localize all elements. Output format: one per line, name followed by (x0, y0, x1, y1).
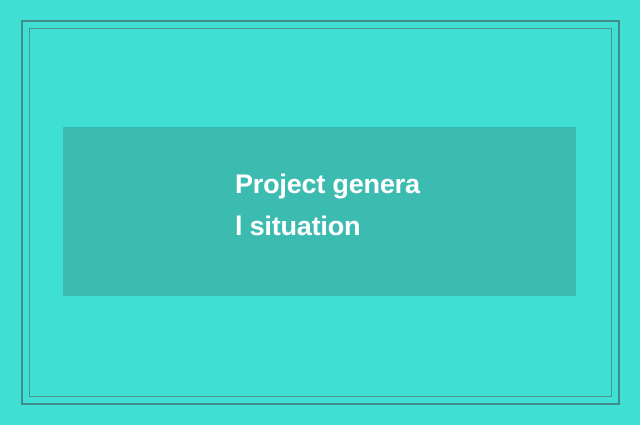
slide-canvas: Project general situation (0, 0, 640, 425)
title-block: Project general situation (235, 163, 423, 247)
slide-title: Project general situation (235, 163, 423, 247)
title-content-panel: Project general situation (63, 127, 576, 296)
